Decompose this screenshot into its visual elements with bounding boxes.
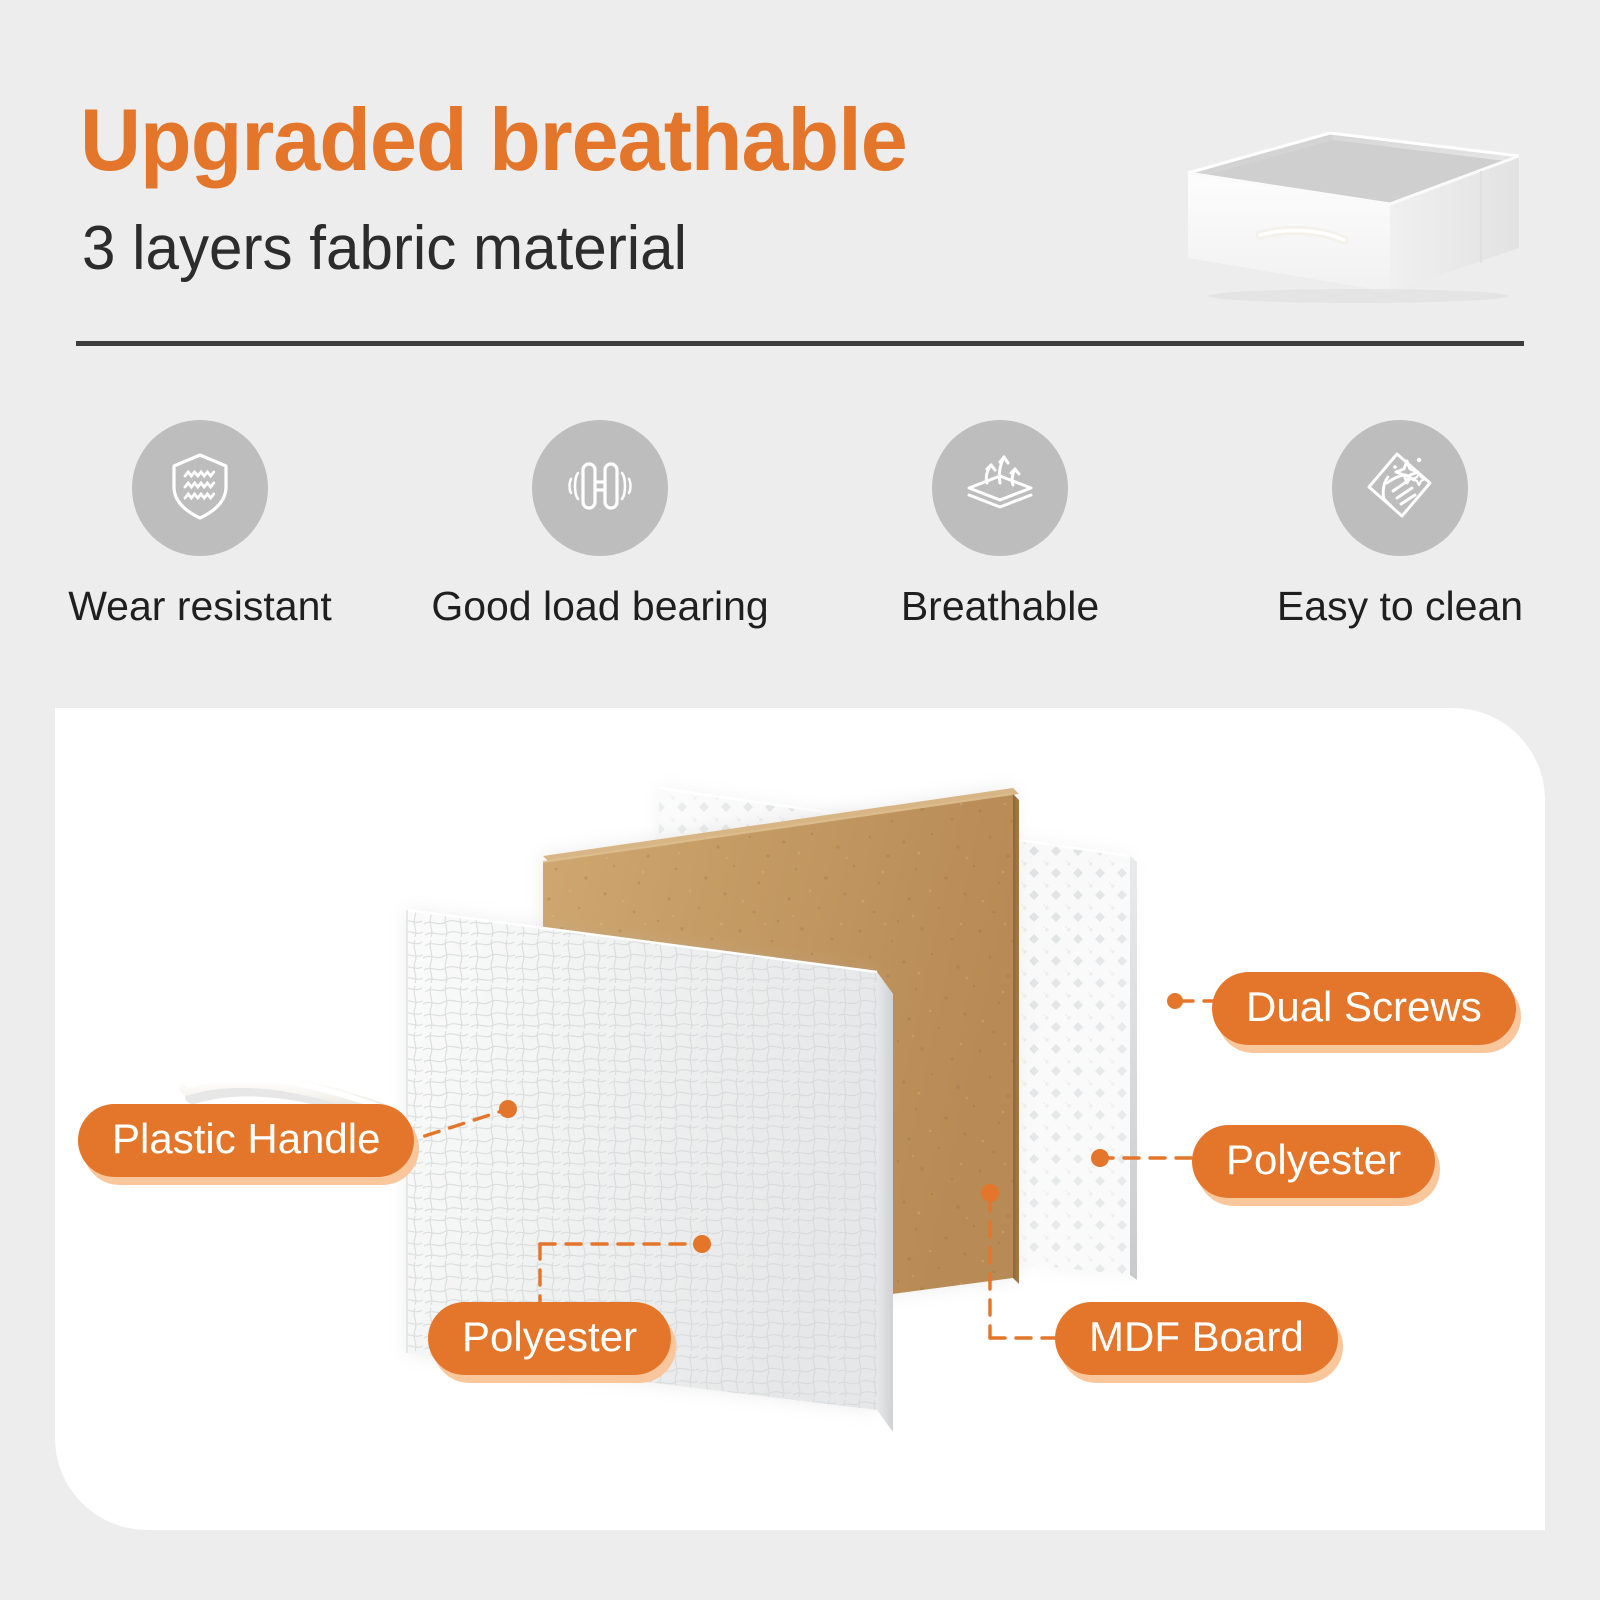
feature-list: Wear resistant Goo <box>0 420 1600 650</box>
header-section: Upgraded breathable 3 layers fabric mate… <box>0 0 1600 350</box>
hand-wipe-sparkle-icon <box>1357 443 1443 534</box>
feature-item-breathable: Breathable <box>800 420 1200 650</box>
page-subheadline: 3 layers fabric material <box>82 218 687 280</box>
feature-icon-circle <box>532 420 668 556</box>
dumbbell-icon <box>559 445 641 532</box>
header-divider <box>76 341 1524 346</box>
callout-polyester-front[interactable]: Polyester <box>428 1302 671 1375</box>
feature-icon-circle <box>932 420 1068 556</box>
callout-dual-screws[interactable]: Dual Screws <box>1212 972 1516 1045</box>
feature-label: Good load bearing <box>431 586 768 627</box>
shield-wave-icon <box>159 445 241 532</box>
feature-item-easy-to-clean: Easy to clean <box>1200 420 1600 650</box>
page-headline: Upgraded breathable <box>80 96 907 184</box>
feature-label: Easy to clean <box>1277 586 1523 627</box>
feature-item-good-load-bearing: Good load bearing <box>400 420 800 650</box>
feature-label: Wear resistant <box>68 586 332 627</box>
product-photo-storage-bin <box>1178 100 1578 315</box>
callout-mdf-board[interactable]: MDF Board <box>1055 1302 1338 1375</box>
feature-item-wear-resistant: Wear resistant <box>0 420 400 650</box>
callout-plastic-handle[interactable]: Plastic Handle <box>78 1104 414 1177</box>
feature-label: Breathable <box>901 586 1099 627</box>
feature-icon-circle <box>132 420 268 556</box>
airflow-layers-icon <box>957 443 1043 534</box>
callout-polyester-back[interactable]: Polyester <box>1192 1125 1435 1198</box>
feature-icon-circle <box>1332 420 1468 556</box>
